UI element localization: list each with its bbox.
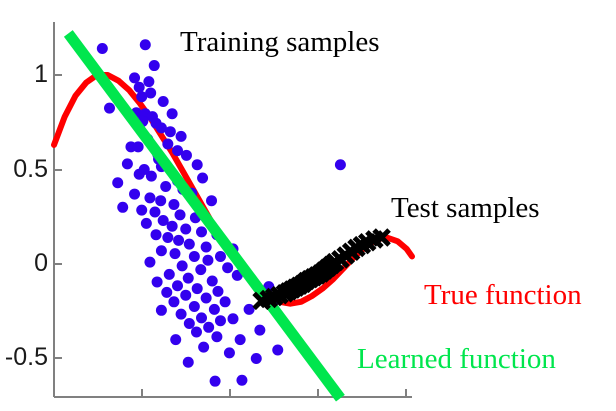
training-sample-point bbox=[162, 232, 173, 243]
y-tick-label: 0.5 bbox=[13, 157, 48, 182]
training-sample-point bbox=[176, 131, 187, 142]
training-sample-point bbox=[168, 296, 179, 307]
training-sample-point bbox=[198, 342, 209, 353]
training-sample-point bbox=[112, 177, 123, 188]
training-sample-point bbox=[251, 353, 262, 364]
training-sample-point bbox=[192, 159, 203, 170]
training-sample-point bbox=[201, 293, 212, 304]
training-sample-point bbox=[129, 189, 140, 200]
y-tick-label: 1 bbox=[34, 62, 48, 87]
training-sample-point bbox=[181, 150, 192, 161]
training-sample-point bbox=[272, 345, 283, 356]
training-sample-point bbox=[165, 126, 176, 137]
x-axis-ticks bbox=[54, 389, 406, 397]
training-sample-point bbox=[151, 229, 162, 240]
training-sample-point bbox=[228, 313, 239, 324]
training-sample-point bbox=[254, 325, 265, 336]
training-sample-point bbox=[158, 96, 169, 107]
training-sample-point bbox=[146, 171, 157, 182]
training-sample-point bbox=[144, 257, 155, 268]
training-sample-point bbox=[141, 218, 152, 229]
training-sample-point bbox=[206, 195, 217, 206]
annotation-test-samples: Test samples bbox=[391, 194, 540, 223]
training-sample-point bbox=[189, 301, 200, 312]
training-sample-point bbox=[164, 269, 175, 280]
y-axis-ticks bbox=[54, 75, 62, 358]
training-sample-point bbox=[177, 260, 188, 271]
training-sample-point bbox=[156, 305, 167, 316]
training-sample-point bbox=[162, 138, 173, 149]
training-sample-point bbox=[129, 72, 140, 83]
training-sample-point bbox=[155, 195, 166, 206]
training-sample-point bbox=[167, 221, 178, 232]
training-sample-point bbox=[335, 159, 346, 170]
training-sample-point bbox=[149, 60, 160, 71]
training-sample-point bbox=[136, 91, 147, 102]
training-sample-point bbox=[202, 255, 213, 266]
annotation-training-samples: Training samples bbox=[180, 28, 380, 57]
training-sample-point bbox=[215, 251, 226, 262]
annotation-true-function: True function bbox=[424, 281, 582, 310]
training-sample-point bbox=[176, 309, 187, 320]
training-sample-point bbox=[117, 202, 128, 213]
training-sample-point bbox=[160, 181, 171, 192]
training-sample-point bbox=[168, 199, 179, 210]
training-sample-point bbox=[104, 103, 115, 114]
training-sample-point bbox=[175, 209, 186, 220]
y-tick-label: 0 bbox=[34, 251, 48, 276]
training-sample-point bbox=[183, 273, 194, 284]
training-sample-point bbox=[235, 334, 246, 345]
training-sample-point bbox=[183, 357, 194, 368]
training-sample-point bbox=[236, 375, 247, 386]
training-sample-point bbox=[192, 283, 203, 294]
training-samples-scatter bbox=[97, 39, 346, 386]
training-sample-point bbox=[97, 43, 108, 54]
training-sample-point bbox=[195, 264, 206, 275]
training-sample-point bbox=[149, 207, 160, 218]
training-sample-point bbox=[144, 192, 155, 203]
training-sample-point bbox=[167, 108, 178, 119]
training-sample-point bbox=[134, 82, 145, 93]
training-sample-point bbox=[170, 248, 181, 259]
training-sample-point bbox=[143, 76, 154, 87]
training-sample-point bbox=[197, 173, 208, 184]
training-sample-point bbox=[134, 169, 145, 180]
training-sample-point bbox=[207, 276, 218, 287]
training-sample-point bbox=[180, 290, 191, 301]
training-sample-point bbox=[222, 262, 233, 273]
training-sample-point bbox=[196, 226, 207, 237]
annotation-learned-function: Learned function bbox=[357, 345, 556, 374]
training-sample-point bbox=[184, 239, 195, 250]
training-sample-point bbox=[173, 235, 184, 246]
training-sample-point bbox=[209, 304, 220, 315]
training-sample-point bbox=[152, 276, 163, 287]
training-sample-point bbox=[156, 245, 167, 256]
training-sample-point bbox=[122, 158, 133, 169]
training-sample-point bbox=[172, 280, 183, 291]
training-sample-point bbox=[215, 315, 226, 326]
training-sample-point bbox=[203, 322, 214, 333]
training-sample-point bbox=[189, 251, 200, 262]
training-sample-point bbox=[191, 327, 202, 338]
training-sample-point bbox=[196, 312, 207, 323]
training-sample-point bbox=[161, 287, 172, 298]
scatter-plot-figure: 10.50-0.5 Training samples Test samples … bbox=[0, 0, 616, 411]
test-samples-scatter bbox=[254, 230, 389, 308]
training-sample-point bbox=[210, 376, 221, 387]
training-sample-point bbox=[170, 334, 181, 345]
training-sample-point bbox=[184, 318, 195, 329]
training-sample-point bbox=[136, 205, 147, 216]
training-sample-point bbox=[201, 241, 212, 252]
training-sample-point bbox=[212, 286, 223, 297]
training-sample-point bbox=[133, 141, 144, 152]
training-sample-point bbox=[244, 304, 255, 315]
training-sample-point bbox=[140, 39, 151, 50]
y-tick-label: -0.5 bbox=[5, 345, 48, 370]
training-sample-point bbox=[224, 347, 235, 358]
training-sample-point bbox=[211, 331, 222, 342]
training-sample-point bbox=[180, 224, 191, 235]
training-sample-point bbox=[220, 296, 231, 307]
